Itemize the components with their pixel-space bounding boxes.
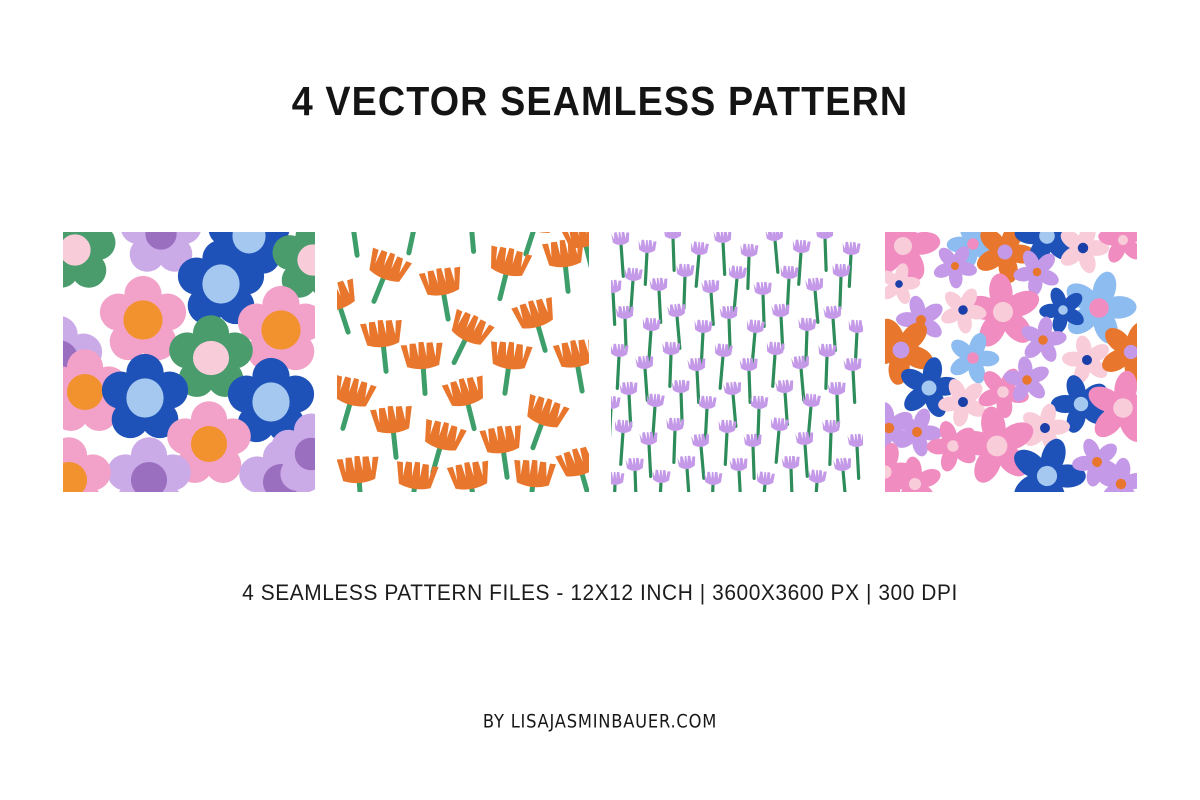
page-title: 4 VECTOR SEAMLESS PATTERN: [48, 78, 1152, 125]
pattern-panel-3[interactable]: [611, 232, 863, 492]
retro-daisy-pattern-art: [63, 232, 315, 492]
author-credit: BY LISAJASMINBAUER.COM: [24, 711, 1176, 733]
pattern-panel-4[interactable]: [885, 232, 1137, 492]
orange-tulip-pattern-art: [337, 232, 589, 492]
poster-canvas: 4 VECTOR SEAMLESS PATTERN: [0, 0, 1200, 800]
lavender-tulip-field-art: [611, 232, 863, 492]
pattern-panel-1[interactable]: [63, 232, 315, 492]
ditsy-floral-pattern-art: [885, 232, 1137, 492]
pattern-specs-text: 4 SEAMLESS PATTERN FILES - 12X12 INCH | …: [30, 580, 1170, 606]
pattern-preview-strip: [63, 232, 1137, 492]
pattern-panel-2[interactable]: [337, 232, 589, 492]
